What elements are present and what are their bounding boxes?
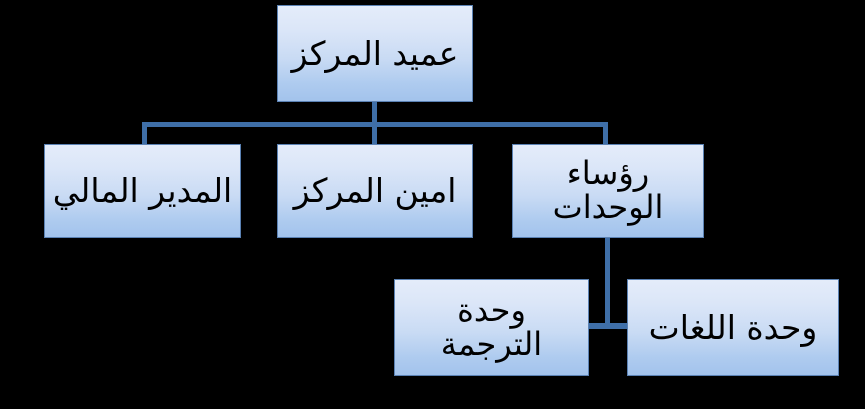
node-languages-unit-label: وحدة اللغات: [628, 310, 838, 346]
node-dean[interactable]: عميد المركز: [277, 5, 473, 102]
connector-drop-center-secretary: [372, 122, 377, 144]
org-chart-canvas: عميد المركز المدير المالي امين المركز رؤ…: [0, 0, 865, 409]
node-languages-unit[interactable]: وحدة اللغات: [627, 279, 839, 376]
connector-unit-heads-stem: [605, 237, 610, 328]
node-financial-director[interactable]: المدير المالي: [44, 144, 241, 238]
connector-drop-unit-heads: [603, 122, 608, 144]
node-dean-label: عميد المركز: [278, 36, 472, 72]
connector-drop-financial-director: [142, 122, 147, 144]
node-financial-director-label: المدير المالي: [45, 173, 240, 209]
node-unit-heads-label: رؤساء الوحدات: [513, 157, 703, 225]
node-center-secretary[interactable]: امين المركز: [277, 144, 473, 238]
node-translation-unit-label: وحدة الترجمة: [395, 294, 588, 362]
node-translation-unit[interactable]: وحدة الترجمة: [394, 279, 589, 376]
connector-level2-bus: [586, 323, 630, 329]
node-center-secretary-label: امين المركز: [278, 173, 472, 209]
node-unit-heads[interactable]: رؤساء الوحدات: [512, 144, 704, 238]
